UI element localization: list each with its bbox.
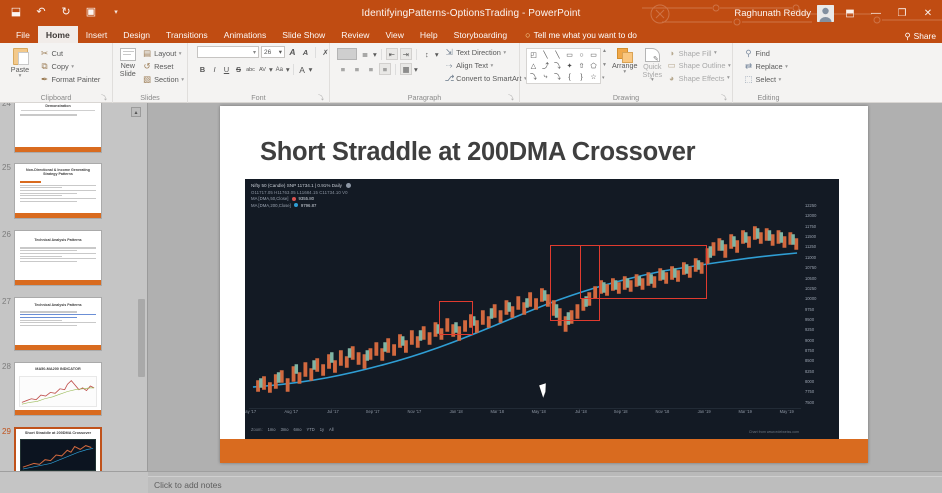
candlestick-series [249, 205, 801, 405]
shape-4[interactable]: ○ [576, 50, 587, 60]
tab-review[interactable]: Review [333, 26, 377, 43]
select-button[interactable]: ⬚ Select ▾ [744, 74, 788, 85]
numbering-icon[interactable]: ≣ [359, 48, 371, 60]
present-icon[interactable]: ▣ [83, 4, 99, 20]
paste-icon [13, 48, 28, 65]
mini-chart [19, 376, 97, 407]
chart-header: Nifty 50 (Candle) SNP 11734.1 | 0.91% Da… [251, 183, 799, 208]
thumbnail-slide-29[interactable]: 29 Short Straddle at 200DMA Crossover [14, 427, 102, 471]
editing-group-label: Editing [736, 92, 801, 103]
date-tick: Jan '19 [698, 409, 711, 414]
shape-outline-caret-icon[interactable]: ▾ [728, 63, 731, 69]
ribbon-group-slides: New Slide ▤ Layout ▾ ↺ Reset ▧ Section [112, 43, 187, 103]
price-tick: 10750 [805, 265, 816, 270]
price-tick: 11500 [805, 234, 816, 239]
mini-chart-line [20, 377, 96, 406]
minimize-window-button[interactable]: — [866, 8, 886, 19]
numbering-caret-icon[interactable]: ▾ [373, 50, 377, 59]
convert-to-smartart-button[interactable]: ⎇ Convert to SmartArt ▾ [445, 73, 527, 84]
tab-design[interactable]: Design [115, 26, 158, 43]
date-tick: Nov '18 [656, 409, 670, 414]
customize-qat-icon[interactable]: ▾ [108, 4, 124, 20]
shape-1[interactable]: ╲ [540, 50, 551, 60]
shape-8[interactable]: ⤵ [552, 61, 563, 71]
ma50-label: MA [DMA,50,Close] [251, 196, 289, 201]
reset-button[interactable]: ↺ Reset [143, 61, 184, 72]
new-slide-icon [120, 48, 136, 61]
section-caret-icon[interactable]: ▾ [181, 77, 184, 83]
date-tick: Jul '18 [575, 409, 587, 414]
quick-styles-label: Quick Styles [643, 63, 663, 78]
select-caret-icon[interactable]: ▾ [779, 77, 782, 83]
shape-fill-caret-icon[interactable]: ▾ [714, 50, 717, 56]
slide-mini-preview[interactable]: Technical Analysis Patterns [14, 297, 102, 351]
window-controls: Raghunath Reddy ⬒ — ❐ ✕ [734, 0, 938, 26]
timeframe-1y[interactable]: 1y [320, 427, 324, 432]
price-tick: 11250 [805, 244, 816, 249]
date-tick: Jan '18 [450, 409, 463, 414]
search-icon: ⚲ [744, 48, 753, 59]
mini-body [15, 307, 101, 326]
font-size-input[interactable]: 26 ▾ [261, 46, 285, 58]
clipboard-dialog-launcher[interactable]: ⤵ [101, 93, 107, 102]
replace-button[interactable]: ⇄ Replace ▾ [744, 61, 788, 72]
date-tick: May '18 [532, 409, 546, 414]
date-tick: Jul '17 [327, 409, 339, 414]
chart-ma50-row: MA [DMA,50,Close] 9355.80 [251, 196, 799, 201]
mini-line [20, 247, 96, 248]
avatar-glyph [817, 5, 834, 22]
underline-button[interactable]: U [221, 64, 232, 75]
font-group-label: Font ⤵ [191, 92, 326, 103]
chart-date-axis: May '17 Aug '17 Jul '17 Sep '17 Nov '17 … [249, 409, 801, 421]
mini-bottom-bar [15, 213, 101, 218]
avatar[interactable] [817, 5, 834, 22]
section-label: Section [154, 75, 179, 84]
shape-15[interactable]: { [564, 72, 575, 82]
columns-caret-icon[interactable]: ▾ [414, 65, 418, 74]
find-label: Find [756, 49, 770, 58]
chart-price-axis: 12250 12000 11750 11500 11250 11000 1075… [803, 203, 837, 405]
title-bar: ⬓ ↶ ↻ ▣ ▾ IdentifyingPatterns-OptionsTra… [0, 0, 942, 26]
thumbnail-pane-scrollbar[interactable] [138, 299, 145, 377]
convert-to-smartart-label: Convert to SmartArt [456, 74, 521, 83]
price-tick: 7500 [805, 400, 814, 405]
shape-effects-button[interactable]: ◕ Shape Effects ▾ [667, 73, 731, 83]
shape-outline-button[interactable]: ▭ Shape Outline ▾ [667, 60, 731, 71]
mini-line [20, 256, 62, 257]
paragraph-divider-3 [395, 64, 396, 75]
slide-accent-bar [220, 439, 868, 463]
mini-line [20, 261, 77, 262]
font-color-button[interactable]: A [297, 64, 308, 75]
mini-line [20, 253, 96, 254]
cut-label: Cut [52, 49, 64, 58]
date-tick: Mar '19 [738, 409, 752, 414]
mini-slide-title: MA50-MA200 INDICATOR [15, 363, 101, 372]
smartart-icon: ⎇ [445, 73, 454, 84]
mini-slide-title: Non-Directional & Income Generating Stra… [15, 164, 101, 177]
chart-settings-icon[interactable] [346, 183, 351, 188]
price-tick: 8750 [805, 348, 814, 353]
restore-window-button[interactable]: ❐ [892, 8, 912, 19]
tab-slide-show[interactable]: Slide Show [274, 26, 333, 43]
tab-file[interactable]: File [8, 26, 38, 43]
close-window-button[interactable]: ✕ [918, 8, 938, 19]
align-left-icon[interactable]: ≡ [337, 63, 349, 75]
text-direction-caret-icon[interactable]: ▾ [503, 50, 506, 56]
columns-icon[interactable]: ▦ [400, 63, 412, 75]
price-tick: 11000 [805, 255, 816, 260]
timeframe-6mo[interactable]: 6mo [294, 427, 302, 432]
mini-slide-title: Short Straddle at 200DMA Crossover [16, 429, 100, 436]
shape-2[interactable]: ╲ [552, 50, 563, 60]
arrange-icon [617, 48, 632, 61]
format-painter-label: Format Painter [52, 75, 101, 84]
change-case-button[interactable]: Aa [274, 64, 285, 75]
shape-5[interactable]: ▭ [588, 50, 599, 60]
crossover-zone-1 [439, 301, 472, 335]
slide-number: 27 [2, 297, 11, 306]
align-text-caret-icon[interactable]: ▾ [491, 63, 494, 69]
quick-styles-button[interactable]: Quick Styles ▾ [643, 46, 663, 84]
ribbon-group-font: ▾ 26 ▾ A A ✗ B I U S abc [187, 43, 329, 103]
font-name-input[interactable]: ▾ [197, 46, 259, 58]
font-size-caret-icon: ▾ [279, 48, 282, 56]
shapes-scroll-up-icon[interactable]: ▲ [602, 48, 607, 54]
price-tick: 9500 [805, 317, 814, 322]
timeframe-all[interactable]: All [329, 427, 334, 432]
font-divider [315, 47, 316, 58]
workspace: ▴ 24 Demonstration 25 Non-Directional & … [0, 103, 942, 471]
arrange-button[interactable]: Arrange ▾ [612, 46, 638, 75]
date-tick: Mar '18 [490, 409, 504, 414]
timeframe-3mo[interactable]: 3mo [281, 427, 289, 432]
copy-button[interactable]: ⧉ Copy ▾ [40, 61, 100, 72]
tab-transitions[interactable]: Transitions [158, 26, 216, 43]
shape-6[interactable]: △ [528, 61, 539, 71]
tab-help[interactable]: Help [412, 26, 446, 43]
font-divider-2 [293, 64, 294, 75]
slide-number: 24 [2, 103, 11, 108]
tab-insert[interactable]: Insert [78, 26, 116, 43]
share-button[interactable]: ⚲ Share [905, 31, 937, 41]
price-tick: 9750 [805, 307, 814, 312]
price-tick: 8000 [805, 379, 814, 384]
price-tick: 8500 [805, 358, 814, 363]
mini-slide-title: Technical Analysis Patterns [15, 298, 101, 307]
mini-bottom-bar [15, 345, 101, 350]
zoom-label: Zoom: [251, 427, 263, 432]
undo-icon[interactable]: ↶ [33, 4, 49, 20]
slide-number: 29 [2, 427, 11, 436]
justify-icon[interactable]: ≡ [379, 63, 391, 75]
ribbon-group-drawing: ◰ ╲ ╲ ▭ ○ ▭ △ ⤴ ⤵ ✦ ⇧ ⬠ ⤵ ⤷ ⤵ [519, 43, 732, 103]
layout-button[interactable]: ▤ Layout ▾ [143, 48, 184, 59]
notes-placeholder[interactable]: Click to add notes [148, 476, 942, 493]
drawing-group-label: Drawing ⤵ [523, 92, 729, 103]
shape-fill-icon: ◑ [667, 48, 676, 58]
text-direction-icon: ⇲ [445, 47, 454, 58]
paragraph-dialog-launcher[interactable]: ⤵ [508, 93, 514, 102]
shapes-scroll[interactable]: ▲ ▼ ▾ [602, 48, 607, 81]
bold-button[interactable]: B [197, 64, 208, 75]
section-button[interactable]: ▧ Section ▾ [143, 74, 184, 85]
slide-mini-preview[interactable]: MA50-MA200 INDICATOR [14, 362, 102, 416]
paragraph-divider [381, 49, 382, 60]
lightbulb-icon: ○ [525, 30, 530, 40]
shapes-scroll-down-icon[interactable]: ▼ [602, 62, 607, 68]
current-slide[interactable]: Short Straddle at 200DMA Crossover Nifty… [220, 106, 868, 463]
mini-line [20, 325, 77, 326]
chart-credit: Chart from www.edelweiss.com [749, 430, 799, 434]
shapes-gallery[interactable]: ◰ ╲ ╲ ▭ ○ ▭ △ ⤴ ⤵ ✦ ⇧ ⬠ ⤵ ⤷ ⤵ [526, 46, 607, 84]
ribbon: Paste ▾ ✂ Cut ⧉ Copy ▾ ✒ Format P [0, 43, 942, 103]
mini-link-line [20, 314, 96, 315]
timeframe-1mo[interactable]: 1mo [268, 427, 276, 432]
date-tick: Nov '17 [408, 409, 422, 414]
replace-label: Replace [756, 62, 783, 71]
redo-icon[interactable]: ↻ [58, 4, 74, 20]
paintbrush-icon: ✒ [40, 74, 49, 85]
mini-line [20, 198, 96, 199]
align-text-label: Align Text [456, 61, 488, 70]
price-tick: 10250 [805, 286, 816, 291]
line-spacing-icon[interactable]: ↕ [421, 48, 433, 60]
font-color-caret-icon[interactable]: ▾ [309, 65, 313, 74]
shape-effects-label: Shape Effects [679, 74, 725, 83]
mini-line [20, 320, 62, 321]
font-size-value: 26 [264, 49, 271, 56]
shape-effects-caret-icon[interactable]: ▾ [727, 75, 730, 81]
slide-number: 28 [2, 362, 11, 371]
mini-body [15, 177, 101, 202]
mini-slide-title: Demonstration [15, 103, 101, 108]
mini-tag [20, 181, 41, 183]
decrease-indent-icon[interactable]: ⇤ [386, 48, 398, 60]
tell-me-label: Tell me what you want to do [534, 30, 637, 40]
quick-access-toolbar: ⬓ ↶ ↻ ▣ ▾ [8, 4, 124, 20]
paragraph-group-label: Paragraph ⤵ [333, 92, 516, 103]
line-spacing-caret-icon[interactable]: ▾ [435, 50, 439, 59]
tab-storyboarding[interactable]: Storyboarding [446, 26, 516, 43]
cut-button[interactable]: ✂ Cut [40, 48, 100, 59]
font-name-caret-icon[interactable]: ▾ [253, 49, 256, 56]
thumbnail-slide-25[interactable]: 25 Non-Directional & Income Generating S… [14, 163, 102, 219]
find-button[interactable]: ⚲ Find [744, 48, 788, 59]
increase-font-size-button[interactable]: A [287, 47, 298, 58]
layout-icon: ▤ [143, 48, 152, 59]
text-direction-label: Text Direction [456, 48, 501, 57]
slide-number: 26 [2, 230, 11, 239]
paste-caret-icon[interactable]: ▾ [19, 74, 22, 80]
change-case-caret-icon[interactable]: ▾ [286, 65, 290, 74]
shape-11[interactable]: ⬠ [588, 61, 599, 71]
slide-mini-preview[interactable]: Non-Directional & Income Generating Stra… [14, 163, 102, 219]
quick-styles-caret-icon[interactable]: ▾ [651, 78, 654, 84]
tab-home[interactable]: Home [38, 26, 78, 43]
slide-mini-preview[interactable]: Short Straddle at 200DMA Crossover [14, 427, 102, 471]
thumbnail-slide-26[interactable]: 26 Technical Analysis Patterns [14, 230, 102, 286]
mini-line [20, 195, 62, 196]
strikethrough-button[interactable]: S [233, 64, 244, 75]
select-icon: ⬚ [744, 74, 753, 85]
trading-chart[interactable]: Nifty 50 (Candle) SNP 11734.1 | 0.91% Da… [245, 179, 839, 439]
date-tick: Sep '18 [614, 409, 628, 414]
price-tick: 8250 [805, 369, 814, 374]
thumbnail-slide-28[interactable]: 28 MA50-MA200 INDICATOR [14, 362, 102, 416]
paragraph-divider-2 [416, 49, 417, 60]
shape-9[interactable]: ✦ [564, 61, 575, 71]
align-right-icon[interactable]: ≡ [365, 63, 377, 75]
timeframe-ytd[interactable]: YTD [307, 427, 315, 432]
shape-13[interactable]: ⤷ [540, 72, 551, 82]
collapse-pane-icon[interactable]: ▴ [131, 107, 141, 117]
text-shadow-button[interactable]: abc [245, 64, 256, 75]
price-tick: 11750 [805, 224, 816, 229]
slide-mini-preview[interactable]: Demonstration [14, 103, 102, 153]
layout-label: Layout [154, 49, 176, 58]
price-tick: 7750 [805, 389, 814, 394]
shape-fill-button[interactable]: ◑ Shape Fill ▾ [667, 48, 731, 58]
new-slide-label: New Slide [116, 62, 140, 77]
crossover-zone-3 [580, 245, 707, 299]
powerpoint-window: ⬓ ↶ ↻ ▣ ▾ IdentifyingPatterns-OptionsTra… [0, 0, 942, 493]
reset-label: Reset [154, 62, 173, 71]
mini-line [20, 185, 96, 186]
layout-caret-icon[interactable]: ▾ [179, 51, 182, 57]
tab-view[interactable]: View [377, 26, 411, 43]
mini-chart [20, 439, 96, 471]
mini-line [20, 193, 77, 194]
ribbon-group-paragraph: ≣ ▾ ⇤ ⇥ ↕ ▾ ≡ ≡ ≡ ≡ [329, 43, 519, 103]
date-tick: May '19 [780, 409, 794, 414]
chart-ticker-label: Nifty 50 (Candle) SNP 11734.1 | 0.91% Da… [251, 183, 342, 188]
font-dialog-launcher[interactable]: ⤵ [318, 93, 324, 102]
price-tick: 10000 [805, 296, 816, 301]
slide-title[interactable]: Short Straddle at 200DMA Crossover [260, 138, 830, 167]
clipboard-group-label: Clipboard ⤵ [3, 92, 109, 103]
notes-bar: Click to add notes [0, 471, 942, 493]
mini-bottom-bar [15, 147, 101, 152]
ribbon-group-editing: ⚲ Find ⇄ Replace ▾ ⬚ Select ▾ [732, 43, 804, 103]
save-icon[interactable]: ⬓ [8, 4, 24, 20]
ma50-swatch-icon [292, 197, 296, 201]
thumbnail-slide-27[interactable]: 27 Technical Analysis Patterns [14, 297, 102, 351]
shape-12[interactable]: ⤵ [528, 72, 539, 82]
reset-icon: ↺ [143, 61, 152, 72]
mini-line [20, 114, 77, 115]
shapes-grid[interactable]: ◰ ╲ ╲ ▭ ○ ▭ △ ⤴ ⤵ ✦ ⇧ ⬠ ⤵ ⤷ ⤵ [526, 48, 601, 84]
mini-link-line [20, 317, 77, 318]
chart-plot [249, 205, 801, 405]
shape-16[interactable]: } [576, 72, 587, 82]
mini-slide-title: Technical Analysis Patterns [15, 231, 101, 242]
ma50-value: 9355.80 [299, 196, 315, 201]
bullets-preview[interactable] [337, 48, 357, 60]
date-tick: Aug '17 [284, 409, 298, 414]
mini-line [20, 190, 96, 191]
price-tick: 10500 [805, 276, 816, 281]
scissors-icon: ✂ [40, 48, 49, 59]
shape-3[interactable]: ▭ [564, 50, 575, 60]
mini-line [20, 187, 62, 188]
mini-bottom-bar [15, 280, 101, 285]
shape-10[interactable]: ⇧ [576, 61, 587, 71]
format-painter-button[interactable]: ✒ Format Painter [40, 74, 100, 85]
mini-bottom-bar [15, 410, 101, 415]
slide-canvas-area[interactable]: Short Straddle at 200DMA Crossover Nifty… [148, 103, 942, 471]
mini-body [15, 242, 101, 262]
share-icon: ⚲ [905, 31, 911, 41]
mini-line [20, 201, 77, 202]
copy-label: Copy [52, 62, 69, 71]
account-name[interactable]: Raghunath Reddy [734, 8, 811, 19]
slides-group-label: Slides [116, 92, 184, 103]
shape-outline-label: Shape Outline [679, 61, 726, 70]
drawing-dialog-launcher[interactable]: ⤵ [721, 93, 727, 102]
text-direction-button[interactable]: ⇲ Text Direction ▾ [445, 47, 527, 58]
shape-outline-icon: ▭ [667, 60, 676, 71]
mini-line [20, 258, 96, 259]
chart-ticker-line: Nifty 50 (Candle) SNP 11734.1 | 0.91% Da… [251, 183, 799, 188]
tab-animations[interactable]: Animations [216, 26, 275, 43]
character-spacing-button[interactable]: AV [257, 64, 268, 75]
paste-button[interactable]: Paste ▾ [3, 46, 37, 79]
tell-me-search[interactable]: ○ Tell me what you want to do [515, 26, 637, 43]
copy-icon: ⧉ [40, 61, 49, 72]
ribbon-display-options-icon[interactable]: ⬒ [840, 8, 860, 19]
share-label: Share [914, 31, 936, 41]
align-text-icon: ⤑ [445, 60, 454, 71]
slide-mini-preview[interactable]: Technical Analysis Patterns [14, 230, 102, 286]
price-tick: 9250 [805, 327, 814, 332]
italic-button[interactable]: I [209, 64, 220, 75]
shape-7[interactable]: ⤴ [540, 61, 551, 71]
copy-caret-icon[interactable]: ▾ [71, 64, 74, 70]
date-tick: Sep '17 [366, 409, 380, 414]
mini-line [20, 250, 77, 251]
align-center-icon[interactable]: ≡ [351, 63, 363, 75]
increase-indent-icon[interactable]: ⇥ [400, 48, 412, 60]
mini-chart-candles [21, 440, 95, 470]
shape-0[interactable]: ◰ [528, 50, 539, 60]
character-spacing-caret-icon[interactable]: ▾ [269, 65, 273, 74]
arrange-caret-icon[interactable]: ▾ [623, 70, 626, 76]
mini-line [20, 322, 96, 323]
section-icon: ▧ [143, 74, 152, 85]
mini-body [15, 111, 101, 115]
shape-fill-label: Shape Fill [679, 49, 712, 58]
chart-timeframe-bar[interactable]: Zoom: 1mo 3mo 6mo YTD 1y All [251, 427, 334, 432]
thumbnail-slide-24[interactable]: 24 Demonstration [14, 103, 102, 153]
date-tick: May '17 [245, 409, 256, 414]
ribbon-group-clipboard: Paste ▾ ✂ Cut ⧉ Copy ▾ ✒ Format P [0, 43, 112, 103]
replace-caret-icon[interactable]: ▾ [785, 64, 788, 70]
shapes-more-icon[interactable]: ▾ [602, 75, 607, 81]
slide-thumbnail-pane[interactable]: ▴ 24 Demonstration 25 Non-Directional & … [0, 103, 148, 471]
quick-styles-icon [645, 48, 660, 62]
decrease-font-size-button[interactable]: A [300, 47, 311, 58]
new-slide-button[interactable]: New Slide [116, 46, 140, 77]
replace-icon: ⇄ [744, 61, 753, 72]
shape-14[interactable]: ⤵ [552, 72, 563, 82]
shape-effects-icon: ◕ [667, 73, 676, 83]
notes-bar-left-spacer [0, 472, 148, 493]
shape-17[interactable]: ☆ [588, 72, 599, 82]
price-tick: 9000 [805, 338, 814, 343]
align-text-button[interactable]: ⤑ Align Text ▾ [445, 60, 527, 71]
